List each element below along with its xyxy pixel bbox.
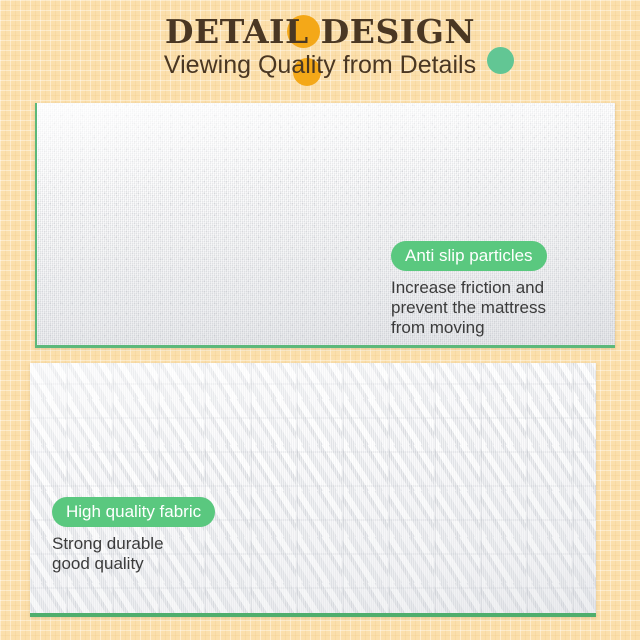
callout-high-quality-fabric: High quality fabric Strong durable good … (52, 497, 262, 574)
callout-body-high-quality-fabric: Strong durable good quality (52, 534, 262, 574)
page-subtitle: Viewing Quality from Details (0, 49, 640, 81)
callout-anti-slip: Anti slip particles Increase friction an… (391, 241, 591, 338)
product-detail-banner: DETAIL DESIGN Viewing Quality from Detai… (0, 0, 640, 640)
fabric-panel-high-quality (30, 363, 596, 617)
panel-sheen-overlay-bottom (30, 363, 596, 613)
page-title: DETAIL DESIGN (0, 13, 640, 51)
header: DETAIL DESIGN Viewing Quality from Detai… (0, 0, 640, 100)
status-badge-high-quality-fabric: High quality fabric (52, 497, 215, 527)
status-badge-anti-slip: Anti slip particles (391, 241, 547, 271)
callout-body-anti-slip: Increase friction and prevent the mattre… (391, 278, 591, 338)
